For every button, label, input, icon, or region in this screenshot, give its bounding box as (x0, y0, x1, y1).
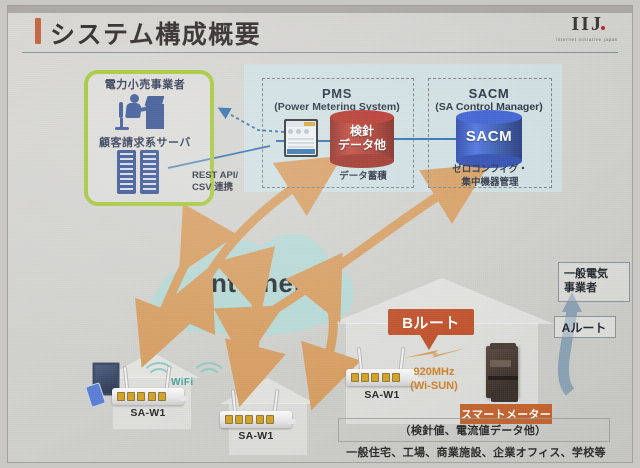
sacm-title: SACM (420, 86, 558, 101)
wisun-line2: (Wi-SUN) (394, 380, 474, 394)
data-note-label: （検針値、電流値データ他） (338, 422, 608, 438)
router-label-middle: SA-W1 (218, 430, 294, 442)
sacm-caption: ゼロコンフィグ・ 集中機器管理 (432, 164, 548, 190)
logo-mark: IIJ (556, 14, 618, 34)
utility-line2: 事業者 (564, 281, 628, 295)
monitor-icon (284, 119, 318, 157)
rest-api-line2: CSV 連携 (192, 182, 256, 194)
slide-photo: システム構成概要 IIJ internet initiative japan (0, 0, 640, 468)
b-route-label: Bルート (388, 312, 474, 333)
slide-sheet: システム構成概要 IIJ internet initiative japan (8, 6, 632, 462)
b-route-pointer (420, 335, 438, 350)
title-accent-bar (35, 18, 41, 44)
internet-cloud-label: Internet (150, 268, 356, 299)
premises-note-label: 一般住宅、工場、商業施設、企業オフィス、学校等 (328, 444, 624, 460)
pms-db-line1: 検針 (330, 125, 394, 139)
pms-title: PMS (262, 86, 412, 101)
wisun-radio-label: 920MHz (Wi-SUN) (394, 366, 474, 394)
page-title: システム構成概要 (50, 15, 261, 51)
pms-database-cylinder: 検針 データ他 (330, 110, 394, 168)
router-sa-w1-middle (220, 404, 292, 428)
sacm-database-cylinder: SACM (456, 110, 522, 168)
rest-api-line1: REST API/ (192, 170, 256, 182)
header-divider (22, 52, 618, 53)
wisun-line1: 920MHz (394, 366, 474, 380)
pms-db-line2: データ他 (330, 139, 394, 153)
smart-meter-icon (486, 346, 522, 402)
router-label-left: SA-W1 (110, 407, 186, 419)
iij-logo: IIJ internet initiative japan (556, 14, 618, 42)
router-sa-w1-left (112, 381, 184, 405)
utility-company-label: 一般電気 事業者 (558, 267, 628, 296)
server-rack-icon (117, 150, 163, 194)
sacm-db-label: SACM (456, 128, 522, 145)
top-edge-band (8, 6, 632, 13)
logo-dot-icon (601, 26, 605, 30)
sacm-caption-line1: ゼロコンフィグ・ (432, 164, 548, 177)
wifi-arc-icon (190, 362, 228, 400)
pms-caption: データ蓄積 (328, 168, 398, 182)
logo-subtitle: internet initiative japan (556, 37, 618, 42)
retailer-label: 電力小売事業者 (86, 76, 204, 92)
sacm-caption-line2: 集中機器管理 (432, 177, 548, 190)
utility-line1: 一般電気 (564, 267, 628, 281)
person-at-desk-icon (112, 94, 176, 130)
rest-api-link-label: REST API/ CSV 連携 (192, 170, 256, 193)
a-route-label: Aルート (554, 319, 614, 336)
billing-server-label: 顧客請求系サーバ (82, 134, 208, 150)
